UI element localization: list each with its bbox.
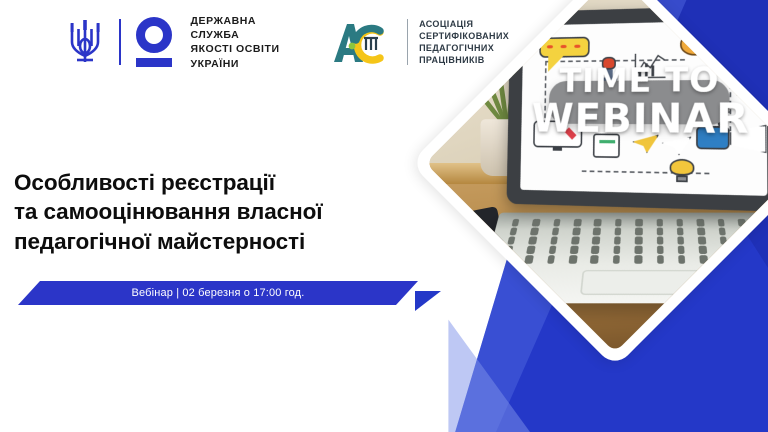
lightbulb-icon: [669, 158, 694, 183]
state-emblem-block: ДЕРЖАВНА СЛУЖБА ЯКОСТІ ОСВІТИ УКРАЇНИ: [64, 14, 280, 71]
sqe-logo-text: ДЕРЖАВНА СЛУЖБА ЯКОСТІ ОСВІТИ УКРАЇНИ: [191, 14, 280, 71]
title-line-2: та самооцінювання власної: [14, 197, 434, 226]
asp-monogram-icon: [330, 16, 386, 68]
sqe-line-4: УКРАЇНИ: [191, 57, 280, 71]
title-line-1: Особливості реєстрації: [14, 168, 434, 197]
sqe-line-2: СЛУЖБА: [191, 28, 280, 42]
logo-divider-2: [407, 19, 409, 65]
logo-row: ДЕРЖАВНА СЛУЖБА ЯКОСТІ ОСВІТИ УКРАЇНИ: [64, 14, 509, 71]
title-line-3: педагогічної майстерності: [14, 227, 434, 256]
page-title: Особливості реєстрації та самооцінювання…: [14, 168, 434, 256]
sqe-line-1: ДЕРЖАВНА: [191, 14, 280, 28]
asp-line-3: ПЕДАГОГІЧНИХ: [419, 42, 509, 54]
circle-o-logo-icon: [134, 17, 178, 67]
asp-line-4: ПРАЦІВНИКІВ: [419, 54, 509, 66]
poster-canvas: TIME TO WEBINAR: [0, 0, 768, 432]
badge-line-1: TIME TO: [560, 63, 720, 98]
webinar-date-text: Вебінар | 02 березня о 17:00 год.: [132, 287, 305, 299]
chat-bubble-icon: [539, 36, 590, 57]
time-to-webinar-badge: TIME TO WEBINAR: [550, 78, 731, 123]
ukraine-trident-icon: [64, 16, 106, 68]
webinar-date-banner: Вебінар | 02 березня о 17:00 год.: [18, 281, 418, 305]
asp-line-1: АСОЦІАЦІЯ: [419, 18, 509, 30]
laptop-trackpad: [581, 269, 704, 295]
asp-logo-text: АСОЦІАЦІЯ СЕРТИФІКОВАНИХ ПЕДАГОГІЧНИХ ПР…: [419, 18, 509, 67]
asp-line-2: СЕРТИФІКОВАНИХ: [419, 30, 509, 42]
logo-divider-1: [119, 19, 121, 65]
badge-line-2: WEBINAR: [532, 98, 750, 140]
sqe-line-3: ЯКОСТІ ОСВІТИ: [191, 42, 280, 56]
asp-logo-block: АСОЦІАЦІЯ СЕРТИФІКОВАНИХ ПЕДАГОГІЧНИХ ПР…: [330, 16, 510, 68]
